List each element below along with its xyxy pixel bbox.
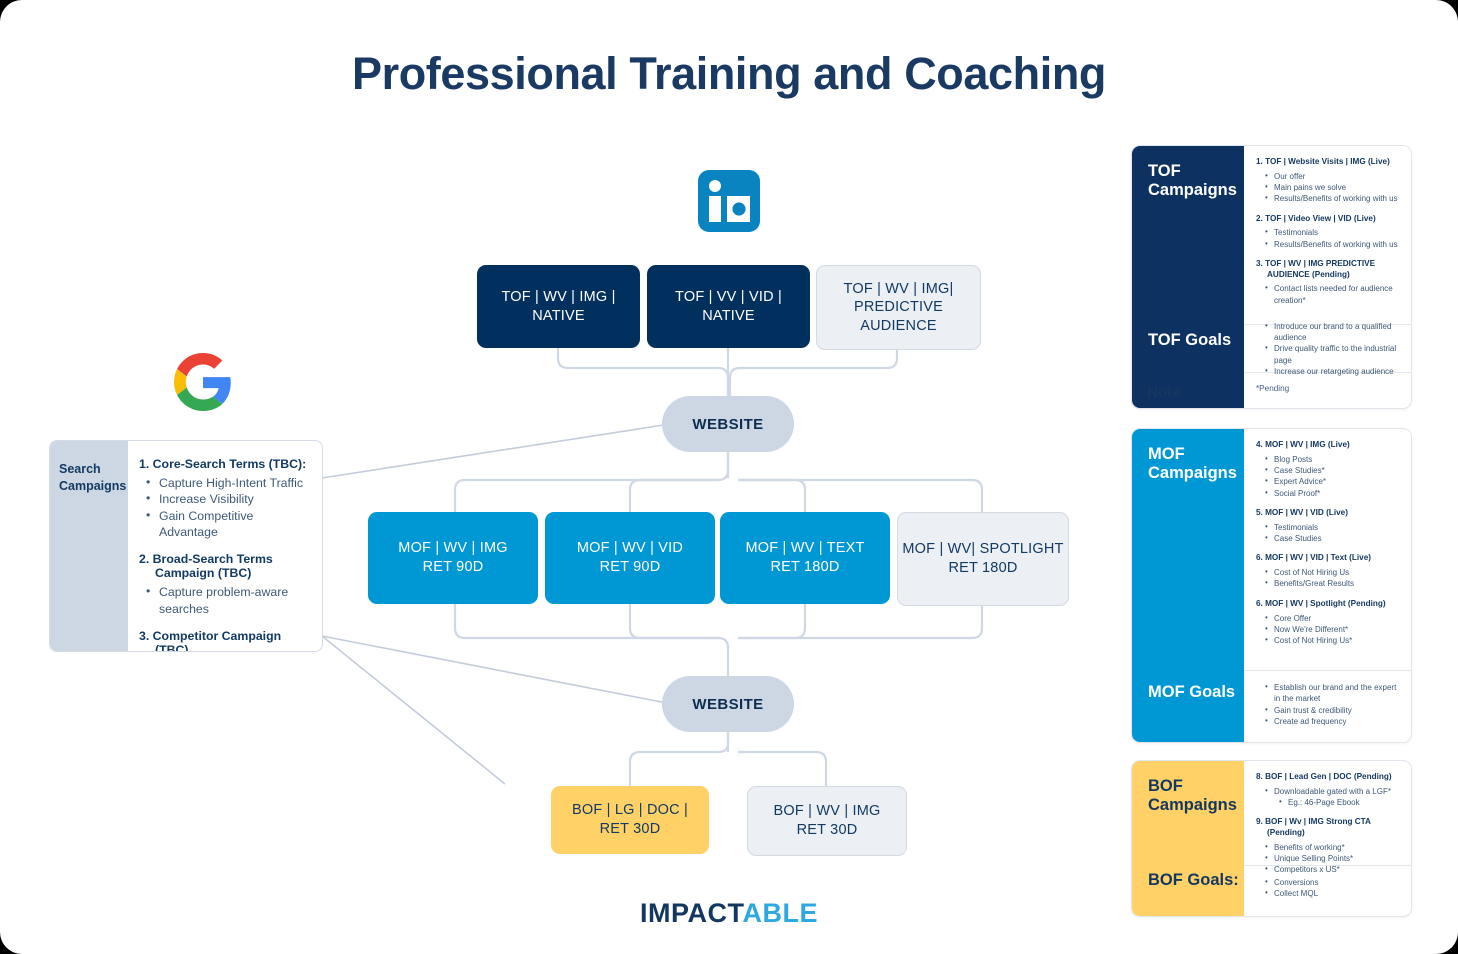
node-line-2: RET 30D (797, 822, 858, 838)
search-campaign-bullets: Capture problem-aware searches (143, 584, 312, 617)
node-mof-wv-img[interactable]: MOF | WV | IMG RET 90D (368, 512, 538, 604)
panel-mof[interactable]: MOF Campaigns MOF Goals 4. MOF | WV | IM… (1131, 428, 1412, 743)
diagram-canvas: Professional Training and Coaching (0, 0, 1458, 954)
list-item: Contact lists needed for audience creati… (1274, 283, 1399, 306)
list-item: Blog Posts (1274, 454, 1399, 465)
list-item: Drive quality traffic to the industrial … (1274, 343, 1399, 366)
campaign-heading: 5. MOF | WV | VID (Live) (1256, 508, 1399, 519)
list-item: Testimonials (1274, 227, 1399, 238)
linkedin-i-dot (709, 180, 721, 192)
list-item: Core Offer (1274, 613, 1399, 624)
campaign-heading: 3. TOF | WV | IMG PREDICTIVE AUDIENCE (P… (1256, 259, 1399, 280)
campaign-heading: 8. BOF | Lead Gen | DOC (Pending) (1256, 772, 1399, 783)
list-item: Gain trust & credibility (1274, 705, 1399, 716)
goal-bullets: Establish our brand and the expert in th… (1256, 682, 1399, 727)
panel-mof-goals: Establish our brand and the expert in th… (1244, 670, 1411, 737)
goal-bullets: Introduce our brand to a qualified audie… (1256, 321, 1399, 378)
list-item: Capture High-Intent Traffic (157, 475, 312, 491)
page-title: Professional Training and Coaching (0, 48, 1458, 100)
campaign-bullets: Cost of Not Hiring Us Benefits/Great Res… (1256, 567, 1399, 590)
panel-tof-title: TOF Campaigns (1132, 146, 1244, 201)
campaign-bullets: Blog Posts Case Studies* Expert Advice* … (1256, 454, 1399, 499)
node-line-1: BOF | LG | DOC | (572, 802, 688, 818)
brand-part-1: IM (640, 898, 671, 928)
search-campaign-bullets: Capture High-Intent Traffic Increase Vis… (143, 475, 312, 540)
list-item-label: Downloadable gated with a LGF* (1274, 787, 1391, 796)
list-item: Cost of Not Hiring Us (1274, 567, 1399, 578)
campaign-heading: 6. MOF | WV | Spotlight (Pending) (1256, 599, 1399, 610)
node-line-1: TOF | WV | IMG| (844, 281, 954, 297)
list-item: Increase Visibility (157, 491, 312, 507)
list-item: Our offer (1274, 171, 1399, 182)
panel-mof-campaigns: 4. MOF | WV | IMG (Live) Blog Posts Case… (1244, 429, 1411, 670)
panel-mof-title-line2: Campaigns (1148, 464, 1237, 482)
list-item: Downloadable gated with a LGF* Eg.: 46-P… (1274, 786, 1399, 809)
campaign-bullets: Benefits of working* Unique Selling Poin… (1256, 842, 1399, 876)
list-item: Competitors x US* (1274, 864, 1399, 875)
google-icon (174, 353, 232, 411)
list-item: Main pains we solve (1274, 182, 1399, 193)
linkedin-n-shape (727, 196, 750, 222)
list-item: Now We're Different* (1274, 624, 1399, 635)
list-item: Benefits/Great Results (1274, 578, 1399, 589)
node-line-2: NATIVE (532, 308, 585, 324)
note-text: *Pending (1256, 384, 1399, 393)
node-line-2: RET 30D (600, 821, 661, 837)
panel-tof-note-label: Note (1147, 384, 1180, 401)
brand-part-3: ABLE (743, 898, 819, 928)
campaign-bullets: Contact lists needed for audience creati… (1256, 283, 1399, 306)
list-item: Social Proof* (1274, 488, 1399, 499)
node-line-2: PREDICTIVE AUDIENCE (854, 299, 943, 334)
node-line-1: MOF | WV | VID (577, 540, 683, 556)
list-item: Establish our brand and the expert in th… (1274, 682, 1399, 705)
list-item: Expert Advice* (1274, 476, 1399, 487)
panel-bof-title-line1: BOF (1148, 777, 1183, 795)
node-tof-vv-vid-native[interactable]: TOF | VV | VID | NATIVE (647, 265, 810, 348)
list-item: Increase our retargeting audience (1274, 366, 1399, 377)
node-website-bottom[interactable]: WEBSITE (662, 676, 794, 732)
linkedin-icon (698, 170, 760, 232)
search-campaigns-card[interactable]: Search Campaigns 1. Core-Search Terms (T… (49, 440, 323, 652)
node-line-1: BOF | WV | IMG (774, 803, 881, 819)
campaign-heading: 9. BOF | Wv | IMG Strong CTA (Pending) (1256, 817, 1399, 838)
search-campaigns-body: 1. Core-Search Terms (TBC): Capture High… (128, 441, 322, 651)
node-website-top[interactable]: WEBSITE (662, 396, 794, 452)
panel-bof-title-line2: Campaigns (1148, 796, 1237, 814)
search-campaign-heading: 3. Competitor Campaign (TBC) (139, 629, 312, 652)
list-item: Cost of Not Hiring Us* (1274, 635, 1399, 646)
node-line-2: RET 180D (770, 559, 839, 575)
node-bof-wv-img[interactable]: BOF | WV | IMG RET 30D (747, 786, 907, 856)
campaign-heading: 6. MOF | WV | VID | Text (Live) (1256, 553, 1399, 564)
list-item: Unique Selling Points* (1274, 853, 1399, 864)
panel-tof[interactable]: TOF Campaigns TOF Goals 1. TOF | Website… (1131, 145, 1412, 409)
panel-tof-sidebar: TOF Campaigns TOF Goals (1132, 146, 1244, 408)
panel-tof-body: 1. TOF | Website Visits | IMG (Live) Our… (1244, 146, 1411, 408)
panel-mof-goals-title: MOF Goals (1132, 667, 1244, 742)
node-mof-wv-vid[interactable]: MOF | WV | VID RET 90D (545, 512, 715, 604)
node-line-1: TOF | WV | IMG | (501, 289, 615, 305)
panel-bof-body: 8. BOF | Lead Gen | DOC (Pending) Downlo… (1244, 761, 1411, 916)
panel-bof[interactable]: BOF Campaigns BOF Goals: 8. BOF | Lead G… (1131, 760, 1412, 917)
list-item: Case Studies* (1274, 465, 1399, 476)
search-campaigns-label: Search Campaigns (50, 441, 128, 651)
campaign-heading: 1. TOF | Website Visits | IMG (Live) (1256, 157, 1399, 168)
panel-bof-sidebar: BOF Campaigns BOF Goals: (1132, 761, 1244, 916)
search-campaigns-label-line1: Search (59, 462, 101, 476)
list-item: Gain Competitive Advantage (157, 508, 312, 541)
list-item: Results/Benefits of working with us (1274, 239, 1399, 250)
campaign-heading: 2. TOF | Video View | VID (Live) (1256, 214, 1399, 225)
goal-bullets: Conversions Collect MQL (1256, 877, 1399, 900)
node-line-1: MOF | WV | TEXT (745, 540, 864, 556)
campaign-bullets: Core Offer Now We're Different* Cost of … (1256, 613, 1399, 647)
list-item: Testimonials (1274, 522, 1399, 533)
campaign-bullets: Testimonials Results/Benefits of working… (1256, 227, 1399, 250)
panel-tof-title-line2: Campaigns (1148, 181, 1237, 199)
list-item: Introduce our brand to a qualified audie… (1274, 321, 1399, 344)
campaign-subbullets: Eg.: 46-Page Ebook (1274, 797, 1399, 808)
node-tof-wv-img-predictive[interactable]: TOF | WV | IMG| PREDICTIVE AUDIENCE (816, 265, 981, 350)
panel-bof-title: BOF Campaigns (1132, 761, 1244, 816)
list-item: Conversions (1274, 877, 1399, 888)
node-mof-wv-text[interactable]: MOF | WV | TEXT RET 180D (720, 512, 890, 604)
node-line-2: RET 90D (600, 559, 661, 575)
panel-mof-sidebar: MOF Campaigns MOF Goals (1132, 429, 1244, 742)
node-line-2: RET 180D (948, 560, 1017, 576)
node-line-1: TOF | VV | VID | (675, 289, 782, 305)
search-campaign-heading: 1. Core-Search Terms (TBC): (139, 457, 312, 471)
node-line-1: MOF | WV| SPOTLIGHT (902, 541, 1063, 557)
search-campaigns-label-line2: Campaigns (59, 479, 126, 493)
list-item: Case Studies (1274, 533, 1399, 544)
list-item: Eg.: 46-Page Ebook (1288, 797, 1399, 808)
panel-tof-goals: Introduce our brand to a qualified audie… (1244, 324, 1411, 372)
list-item: Capture problem-aware searches (157, 584, 312, 617)
list-item: Results/Benefits of working with us (1274, 193, 1399, 204)
node-line-1: MOF | WV | IMG (398, 540, 507, 556)
node-bof-lg-doc[interactable]: BOF | LG | DOC | RET 30D (551, 786, 709, 854)
panel-mof-title: MOF Campaigns (1132, 429, 1244, 484)
list-item: Create ad frequency (1274, 716, 1399, 727)
node-mof-wv-spotlight[interactable]: MOF | WV| SPOTLIGHT RET 180D (897, 512, 1069, 606)
node-tof-wv-img-native[interactable]: TOF | WV | IMG | NATIVE (477, 265, 640, 348)
panel-bof-campaigns: 8. BOF | Lead Gen | DOC (Pending) Downlo… (1244, 761, 1411, 865)
node-line-2: NATIVE (702, 308, 755, 324)
panel-tof-campaigns: 1. TOF | Website Visits | IMG (Live) Our… (1244, 146, 1411, 324)
linkedin-i-bar (709, 196, 721, 222)
search-campaign-heading: 2. Broad-Search Terms Campaign (TBC) (139, 552, 312, 580)
campaign-bullets: Testimonials Case Studies (1256, 522, 1399, 545)
panel-tof-title-line1: TOF (1148, 162, 1181, 180)
node-line-2: RET 90D (423, 559, 484, 575)
panel-mof-title-line1: MOF (1148, 445, 1185, 463)
campaign-heading: 4. MOF | WV | IMG (Live) (1256, 440, 1399, 451)
impactable-logo: IMPACTABLE (0, 898, 1458, 929)
brand-part-2: PACT (671, 898, 743, 928)
list-item: Benefits of working* (1274, 842, 1399, 853)
campaign-bullets: Our offer Main pains we solve Results/Be… (1256, 171, 1399, 205)
campaign-bullets: Downloadable gated with a LGF* Eg.: 46-P… (1256, 786, 1399, 809)
panel-mof-body: 4. MOF | WV | IMG (Live) Blog Posts Case… (1244, 429, 1411, 742)
